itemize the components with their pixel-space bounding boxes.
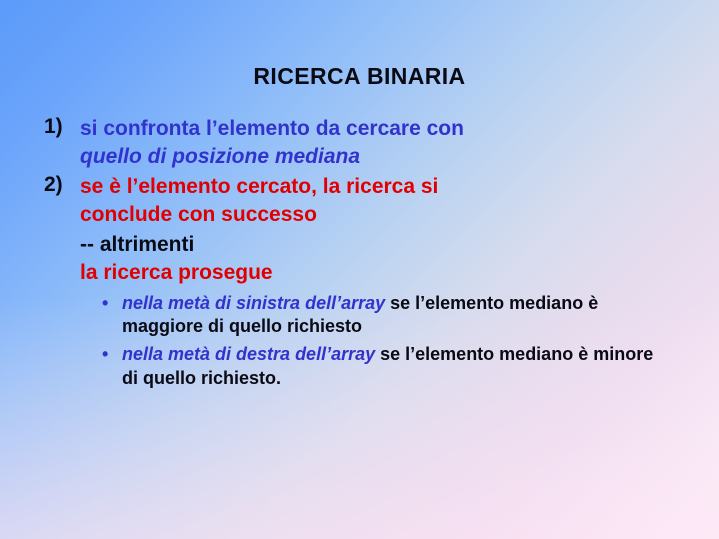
sub-bullet-list: • nella metà di sinistra dell’array se l… (44, 292, 674, 391)
list-item-1-line-2: quello di posizione mediana (80, 143, 674, 171)
slide-content: RICERCA BINARIA 1) si confronta l’elemen… (0, 0, 719, 539)
altrimenti-line: -- altrimenti (44, 231, 674, 259)
list-item-2-line-2: conclude con successo (80, 201, 674, 229)
page-title: RICERCA BINARIA (0, 63, 719, 90)
sub-list-item-2: • nella metà di destra dell’array se l’e… (100, 343, 674, 391)
list-item-2: 2) se è l’elemento cercato, la ricerca s… (44, 173, 674, 229)
bullet-dot-icon: • (102, 343, 108, 367)
sub-list-item-1: • nella metà di sinistra dell’array se l… (100, 292, 674, 340)
list-item-2-line-1: se è l’elemento cercato, la ricerca si (80, 173, 674, 201)
prosegue-line: la ricerca prosegue (44, 259, 674, 287)
list-item-1-marker: 1) (44, 115, 63, 139)
list-item-1-line-1: si confronta l’elemento da cercare con (80, 115, 674, 143)
presentation-slide: RICERCA BINARIA 1) si confronta l’elemen… (0, 0, 719, 539)
sub-list-item-2-emphasis: nella metà di destra dell’array (122, 344, 375, 364)
list-item-2-marker: 2) (44, 173, 63, 197)
slide-body: 1) si confronta l’elemento da cercare co… (44, 115, 674, 395)
bullet-dot-icon: • (102, 292, 108, 316)
sub-list-item-1-emphasis: nella metà di sinistra dell’array (122, 293, 385, 313)
list-item-1: 1) si confronta l’elemento da cercare co… (44, 115, 674, 171)
